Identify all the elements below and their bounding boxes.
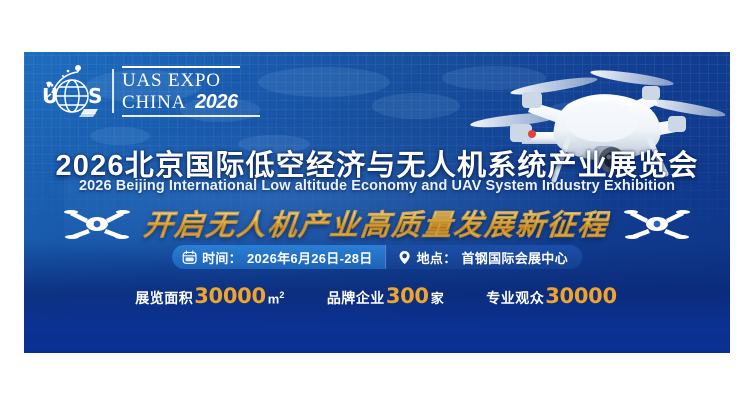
drone-silhouette-icon xyxy=(64,206,130,240)
page-title-en: 2026 Beijing International Low altitude … xyxy=(24,178,730,194)
stat-value: 30000 xyxy=(194,284,266,308)
stat-label: 展览面积 xyxy=(135,288,193,308)
drone-silhouette-icon xyxy=(624,206,690,240)
calendar-clock-icon xyxy=(182,250,197,265)
stat-unit: m2 xyxy=(268,290,285,306)
logo[interactable]: Ü S UAS EXPO xyxy=(38,62,256,120)
stat-label: 品牌企业 xyxy=(327,288,385,308)
slogan-row: 开启无人机产业高质量发展新征程 xyxy=(24,200,730,246)
logo-divider xyxy=(112,69,114,113)
stat-label: 专业观众 xyxy=(486,288,544,308)
stat-value: 30000 xyxy=(545,284,617,308)
logo-rule-bottom xyxy=(122,115,260,117)
slogan-text: 开启无人机产业高质量发展新征程 xyxy=(142,202,611,244)
exhibition-banner: Ü S UAS EXPO xyxy=(24,52,730,353)
event-info-bar: 时间： 2026年6月26日-28日 地点： 首钢国际会展中心 xyxy=(172,245,582,269)
svg-text:Ü: Ü xyxy=(42,84,58,108)
logo-year: 2026 xyxy=(195,92,238,112)
stats-row: 展览面积 30000 m2 品牌企业 300 家 专业观众 30000 xyxy=(24,284,730,308)
stat-item: 专业观众 30000 xyxy=(486,284,619,308)
event-time-value: 2026年6月26日-28日 xyxy=(247,248,373,267)
stat-item: 展览面积 30000 m2 xyxy=(135,284,284,308)
location-pin-icon xyxy=(397,250,412,265)
page-root: Ü S UAS EXPO xyxy=(0,0,750,410)
logo-text: UAS EXPO CHINA 2026 xyxy=(122,66,260,117)
logo-line1: UAS EXPO xyxy=(122,71,260,90)
event-place-label: 地点： xyxy=(417,248,457,267)
svg-text:S: S xyxy=(88,84,102,108)
logo-line2: CHINA xyxy=(122,93,186,112)
stat-item: 品牌企业 300 家 xyxy=(327,284,444,308)
event-time-label: 时间： xyxy=(202,248,242,267)
event-place: 地点： 首钢国际会展中心 xyxy=(385,245,582,269)
event-place-value: 首钢国际会展中心 xyxy=(462,248,568,267)
globe-satellite-emblem-icon: Ü S xyxy=(38,63,110,119)
logo-rule-top xyxy=(122,66,240,68)
stat-unit: 家 xyxy=(431,288,444,307)
event-time: 时间： 2026年6月26日-28日 xyxy=(172,245,385,269)
stat-value: 300 xyxy=(386,284,429,308)
